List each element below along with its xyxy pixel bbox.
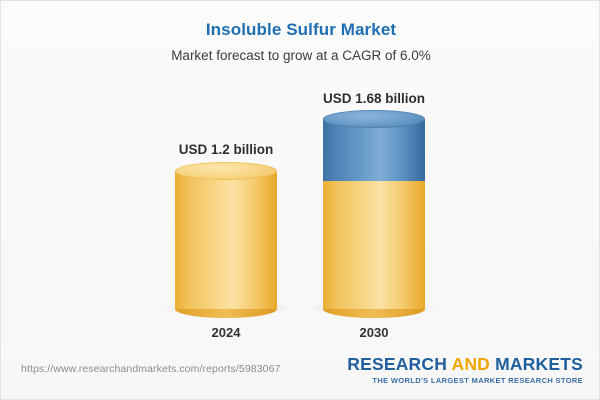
footer: https://www.researchandmarkets.com/repor…	[1, 344, 600, 399]
cylinder-segment-growth-2030	[323, 119, 425, 181]
cylinder-segment-base-2030	[323, 181, 425, 309]
cylinder-body-2024	[175, 171, 277, 309]
cylinder-top-cap-2024	[175, 162, 277, 180]
infographic-canvas: Insoluble Sulfur Market Market forecast …	[0, 0, 600, 400]
bar-value-label-2030: USD 1.68 billion	[274, 91, 474, 106]
logo-word-markets: MARKETS	[495, 354, 583, 374]
cylinder-top-cap-2030	[323, 110, 425, 128]
cylinder-body-base-2030	[323, 181, 425, 309]
logo-tagline: THE WORLD'S LARGEST MARKET RESEARCH STOR…	[347, 376, 583, 385]
cylinder-2030	[323, 119, 425, 309]
cylinder-segment-base-2024	[175, 171, 277, 309]
cylinder-2024	[175, 171, 277, 309]
bar-value-label-2024: USD 1.2 billion	[126, 142, 326, 157]
logo-word-research: RESEARCH	[347, 354, 447, 374]
chart-plot-area: USD 1.2 billion 2024 USD 1.68 billion	[1, 1, 600, 346]
bar-category-label-2030: 2030	[274, 325, 474, 340]
logo-word-and-text: AND	[451, 354, 490, 374]
logo-wordmark: RESEARCH AND MARKETS	[347, 354, 583, 374]
cylinder-body-growth-2030	[323, 119, 425, 181]
research-and-markets-logo[interactable]: RESEARCH AND MARKETS THE WORLD'S LARGEST…	[347, 354, 583, 385]
report-url[interactable]: https://www.researchandmarkets.com/repor…	[21, 363, 280, 375]
